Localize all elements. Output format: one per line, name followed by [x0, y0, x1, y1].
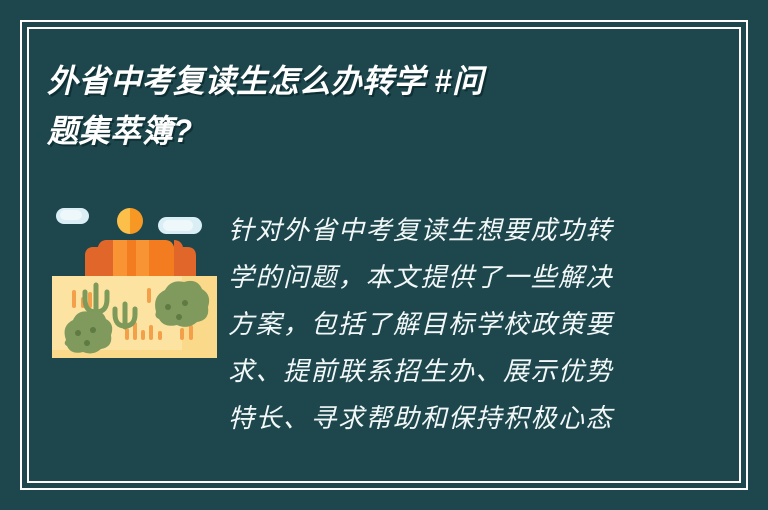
body-line-1: 针对外省中考复读生想要成功转: [228, 207, 668, 254]
desert-mesa-illustration: [52, 200, 217, 362]
body-line-5: 特长、寻求帮助和保持积极心态: [228, 395, 668, 442]
body-line-4: 求、提前联系招生办、展示优势: [228, 348, 668, 395]
body-line-2: 学的问题，本文提供了一些解决: [228, 254, 668, 301]
title-line-2: 题集萃簿?: [47, 106, 629, 156]
cloud-left-icon: [56, 208, 89, 224]
page-title: 外省中考复读生怎么办转学 #问 题集萃簿?: [47, 56, 647, 156]
body-line-3: 方案，包括了解目标学校政策要: [228, 301, 668, 348]
mesa-shape: [85, 240, 196, 279]
title-line-1: 外省中考复读生怎么办转学 #问: [47, 56, 629, 106]
sun-icon: [117, 208, 143, 234]
article-summary: 针对外省中考复读生想要成功转 学的问题，本文提供了一些解决 方案，包括了解目标学…: [228, 207, 668, 442]
article-card: 外省中考复读生怎么办转学 #问 题集萃簿?: [0, 0, 768, 510]
cloud-right-icon: [158, 217, 202, 234]
